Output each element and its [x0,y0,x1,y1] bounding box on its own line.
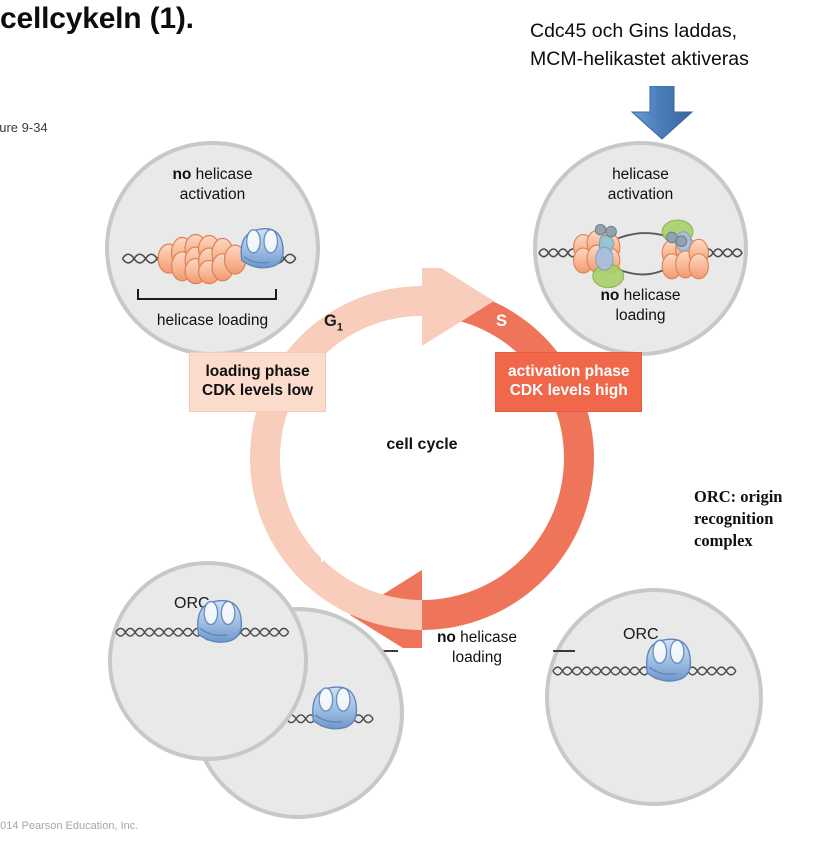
phase-letter-text: S [496,312,507,330]
label-line2: loading [452,649,502,666]
phase-letter-text: G [494,546,507,564]
phase-label-m: M [320,548,334,567]
loading-phase-box: loading phase CDK levels low [189,352,326,412]
slide-canvas: cellcykeln (1). gure 9-34 ar . Cdc45 och… [0,0,830,864]
activation-phase-line-1: activation phase [508,362,629,381]
orc-legend-line-3: complex [694,530,782,552]
loading-phase-line-1: loading phase [202,362,313,381]
annotation-line-1: Cdc45 och Gins laddas, [530,18,830,46]
phase-letter-text: M [320,548,334,566]
cycle-center-label: cell cycle [232,436,612,454]
annotation-line-2: MCM-helikastet aktiveras [530,46,830,74]
loading-phase-line-2: CDK levels low [202,381,313,400]
activation-arrow [350,286,594,648]
activation-phase-box: activation phase CDK levels high [495,352,642,412]
orc-legend-line-1: ORC: origin [694,486,782,508]
copyright-notice: 2014 Pearson Education, Inc. [0,820,138,832]
figure-caption: gure 9-34 [0,120,48,135]
phase-letter-text: G [324,312,337,330]
orc-legend: ORC: origin recognition complex [694,486,782,552]
cell-bottom-left-upper: ORC [108,561,308,761]
dna-orc-illustration [112,565,304,757]
phase-label-g1: G1 [324,312,343,333]
phase-label-g2: G2 [494,546,513,567]
phase-subscript: 2 [507,555,513,567]
down-arrow-icon [626,86,698,140]
activation-phase-line-2: CDK levels high [508,381,629,400]
annotation-text: Cdc45 och Gins laddas, MCM-helikastet ak… [530,18,830,73]
phase-label-s: S [496,312,507,331]
phase-subscript: 1 [337,321,343,333]
page-title: cellcykeln (1). [0,2,194,36]
orc-legend-line-2: recognition [694,508,782,530]
